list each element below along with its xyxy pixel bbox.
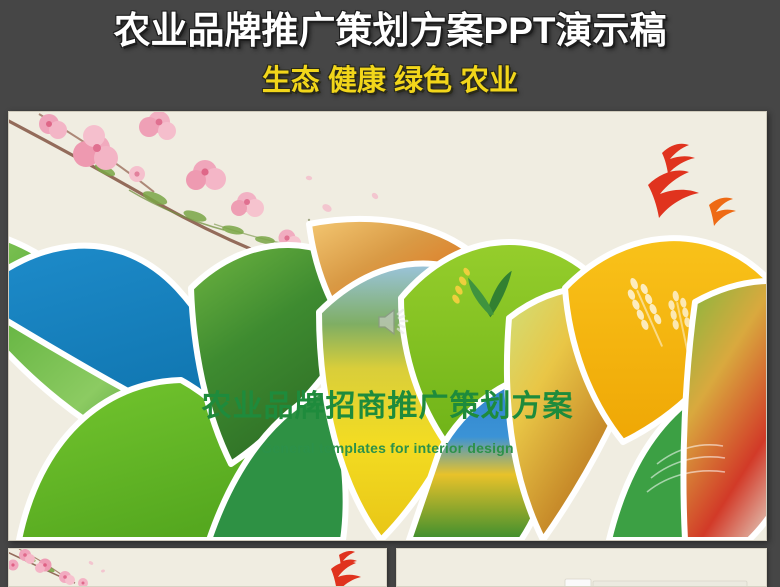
thumbnail-slide-1[interactable] xyxy=(8,548,387,587)
thumbnail-slide-2[interactable] xyxy=(396,548,767,587)
segment-group xyxy=(9,219,766,540)
header-banner: 农业品牌推广策划方案PPT演示稿 生态 健康 绿色 农业 xyxy=(0,0,780,108)
slide-title: 农业品牌招商推广策划方案 xyxy=(9,387,766,427)
page-subtitle: 生态 健康 绿色 农业 xyxy=(0,62,780,100)
thumbnail-1-artwork xyxy=(9,549,386,586)
slide-subtitle: General templates for interior design xyxy=(9,438,766,458)
speaker-icon-svg xyxy=(376,306,410,338)
page-root: 农业品牌推广策划方案PPT演示稿 生态 健康 绿色 农业 xyxy=(0,0,780,585)
main-slide-preview[interactable]: 农业品牌招商推广策划方案 General templates for inter… xyxy=(8,111,767,541)
thumbnail-2-artwork xyxy=(397,549,766,586)
speaker-icon xyxy=(376,306,410,338)
page-title: 农业品牌推广策划方案PPT演示稿 xyxy=(0,8,780,54)
